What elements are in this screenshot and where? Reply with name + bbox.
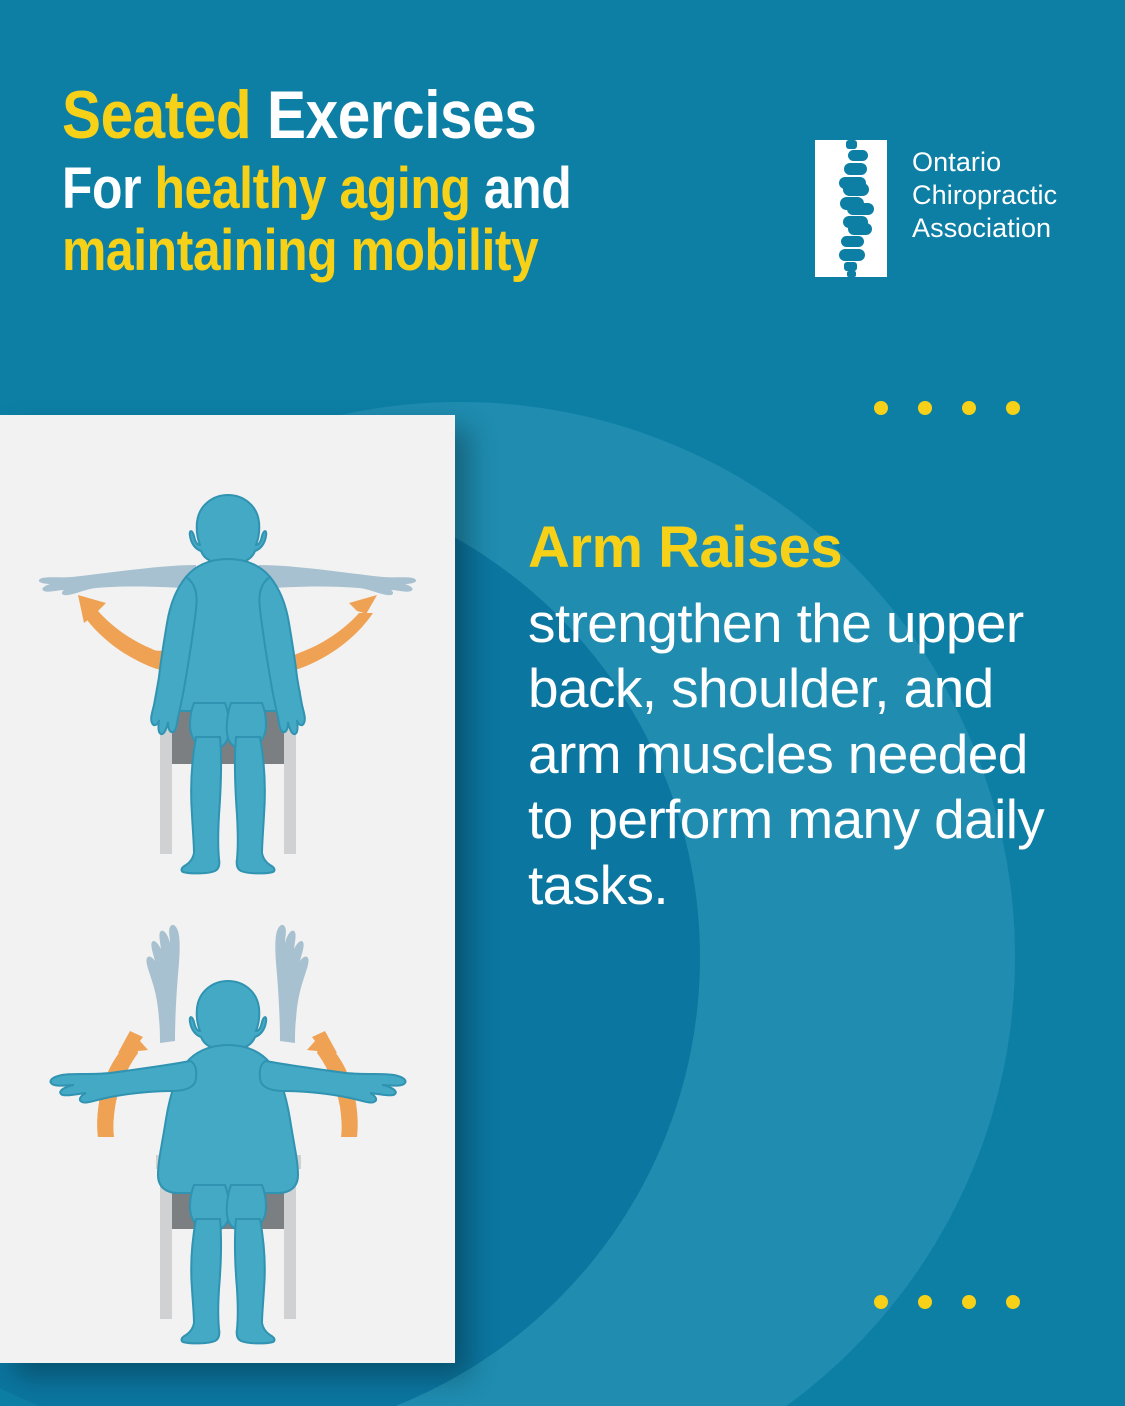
content-block: Arm Raises strengthen the upper back, sh… (528, 519, 1048, 918)
logo-line-ontario: Ontario (912, 146, 1057, 179)
illustration-arm-raises-end (0, 893, 455, 1345)
dot (874, 1295, 888, 1309)
spine-logo-mark (815, 140, 887, 277)
illustration-arm-raises-start (0, 437, 455, 877)
title-line-3: maintaining mobility (62, 223, 681, 280)
title-line-1: Seated Exercises (62, 82, 681, 149)
dot (1006, 401, 1020, 415)
organization-logo: Ontario Chiropractic Association (815, 140, 1057, 277)
logo-line-association: Association (912, 212, 1057, 245)
seated-figure-arms-down-svg (0, 437, 455, 877)
dot (962, 401, 976, 415)
poster-canvas: Seated Exercises For healthy aging and m… (0, 0, 1125, 1406)
organization-name: Ontario Chiropractic Association (912, 140, 1057, 245)
dot (918, 1295, 932, 1309)
motion-arrow-right (285, 595, 377, 670)
seated-figure-arms-horizontal-svg (0, 893, 455, 1345)
logo-line-chiropractic: Chiropractic (912, 179, 1057, 212)
dot (874, 401, 888, 415)
title-word-for: For (62, 156, 141, 221)
content-body: strengthen the upper back, shoulder, and… (528, 591, 1048, 918)
dot (962, 1295, 976, 1309)
title-phrase-healthy-aging: healthy aging (155, 156, 471, 221)
header: Seated Exercises For healthy aging and m… (0, 0, 1125, 404)
title-word-and: and (484, 156, 571, 221)
decorative-dots-top (874, 401, 1020, 415)
title-word-exercises: Exercises (267, 77, 536, 153)
decorative-dots-bottom (874, 1295, 1020, 1309)
title-line-2: For healthy aging and (62, 161, 681, 218)
content-heading: Arm Raises (528, 519, 1048, 577)
dot (918, 401, 932, 415)
human-figure (50, 981, 405, 1343)
dot (1006, 1295, 1020, 1309)
title-phrase-maintaining-mobility: maintaining mobility (62, 218, 538, 283)
spine-icon (815, 140, 887, 277)
title-word-seated: Seated (62, 77, 251, 153)
illustration-panel (0, 415, 455, 1363)
page-title: Seated Exercises For healthy aging and m… (62, 82, 782, 280)
motion-arrow-left (78, 595, 170, 670)
human-figure (151, 495, 305, 873)
